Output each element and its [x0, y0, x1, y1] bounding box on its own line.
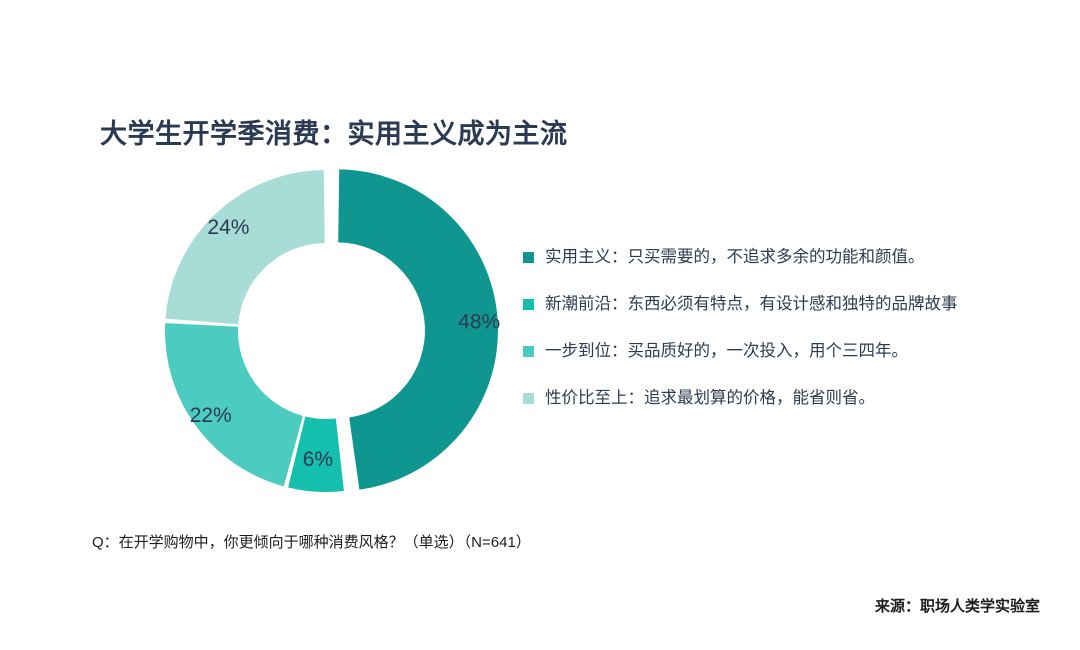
- donut-slice[interactable]: [165, 323, 303, 486]
- donut-slice-label: 48%: [458, 310, 500, 333]
- legend-item-label: 实用主义：只买需要的，不追求多余的功能和颜值。: [545, 246, 925, 268]
- legend-item-shiyongzhuyi[interactable]: 实用主义：只买需要的，不追求多余的功能和颜值。: [523, 246, 1023, 293]
- legend-swatch-icon: [523, 393, 534, 404]
- donut-slice-label: 6%: [303, 448, 333, 471]
- donut-slice[interactable]: [165, 170, 324, 324]
- slide-canvas: 大学生开学季消费：实用主义成为主流 48%6%22%24% 实用主义：只买需要的…: [0, 0, 1080, 650]
- chart-legend: 实用主义：只买需要的，不追求多余的功能和颜值。 新潮前沿：东西必须有特点，有设计…: [523, 246, 1023, 434]
- chart-title: 大学生开学季消费：实用主义成为主流: [100, 112, 568, 151]
- legend-item-label: 性价比至上：追求最划算的价格，能省则省。: [545, 387, 875, 409]
- donut-slice-label: 24%: [207, 216, 249, 239]
- legend-item-yibudaowei[interactable]: 一步到位：买品质好的，一次投入，用个三四年。: [523, 340, 1023, 387]
- legend-item-xinchaoqianyan[interactable]: 新潮前沿：东西必须有特点，有设计感和独特的品牌故事: [523, 293, 1023, 340]
- donut-chart: 48%6%22%24%: [145, 155, 515, 505]
- legend-swatch-icon: [523, 252, 534, 263]
- legend-item-xingjiabizhishang[interactable]: 性价比至上：追求最划算的价格，能省则省。: [523, 387, 1023, 434]
- legend-swatch-icon: [523, 346, 534, 357]
- donut-chart-svg: 48%6%22%24%: [145, 155, 515, 505]
- legend-swatch-icon: [523, 299, 534, 310]
- legend-item-label: 新潮前沿：东西必须有特点，有设计感和独特的品牌故事: [545, 293, 958, 315]
- source-note: 来源：职场人类学实验室: [875, 595, 1040, 616]
- donut-slice-label: 22%: [190, 404, 232, 427]
- legend-item-label: 一步到位：买品质好的，一次投入，用个三四年。: [545, 340, 908, 362]
- survey-question-note: Q：在开学购物中，你更倾向于哪种消费风格？（单选）（N=641）: [92, 531, 531, 552]
